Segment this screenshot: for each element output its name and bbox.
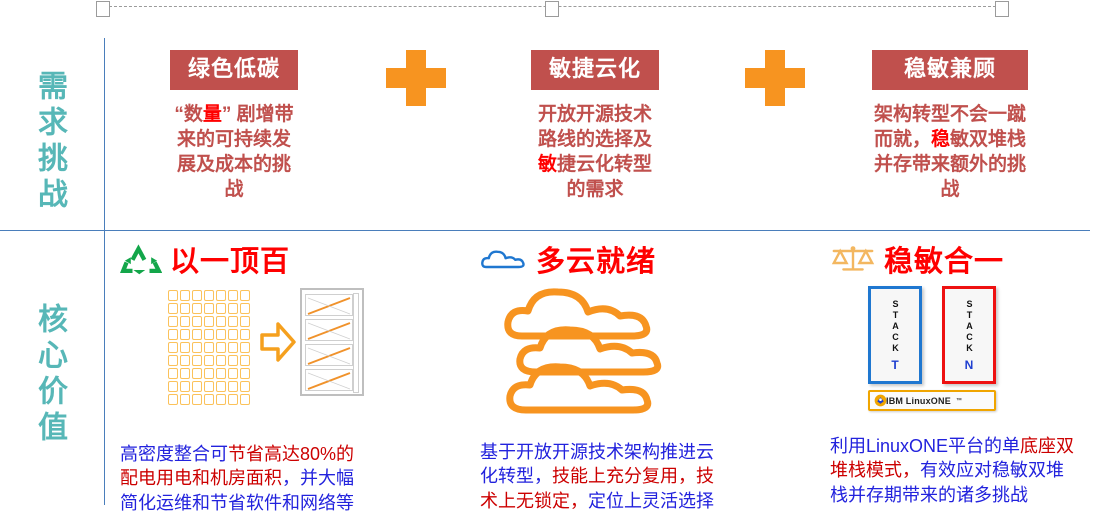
rack-diagonals [305, 294, 353, 394]
value-art-1 [120, 284, 360, 424]
challenge-body-3: 架构转型不会一蹴而就，稳敏双堆栈并存带来额外的挑战 [872, 102, 1028, 202]
challenge-text-highlight-2: 敏 [538, 154, 557, 175]
challenge-card-2: 敏捷云化 开放开源技术路线的选择及敏捷云化转型的需求 [531, 50, 659, 202]
recycle-icon [120, 242, 162, 276]
challenge-text-highlight-1: 量 [203, 104, 222, 125]
balance-scale-icon [830, 243, 876, 275]
stack-box-t-letter: T [891, 358, 898, 372]
bracket-tick-middle [545, 1, 559, 17]
linuxone-brand-text: IBM LinuxONE [886, 396, 951, 406]
value-column-3: 稳敏合一 STACK T STACK N IBM L [830, 240, 1080, 507]
value-header-2: 多云就绪 [480, 240, 730, 278]
bracket-tick-right [995, 1, 1009, 17]
challenge-body-2: 开放开源技术路线的选择及敏捷云化转型的需求 [531, 102, 659, 202]
challenge-card-3: 稳敏兼顾 架构转型不会一蹴而就，稳敏双堆栈并存带来额外的挑战 [872, 50, 1028, 202]
stacked-clouds-art [496, 280, 686, 420]
challenge-text-pre-1: “数 [174, 104, 203, 125]
challenge-text-highlight-3: 稳 [931, 129, 950, 150]
stack-box-n-label: STACK [962, 299, 975, 354]
challenge-text-post-2: 捷云化转型的需求 [557, 154, 652, 200]
row-label-core-value: 核心价值 [14, 280, 84, 470]
stack-box-t-label: STACK [888, 299, 901, 354]
challenge-card-1: 绿色低碳 “数量” 剧增带来的可持续发展及成本的挑战 [170, 50, 298, 202]
stack-box-t: STACK T [868, 286, 922, 384]
challenge-body-1: “数量” 剧增带来的可持续发展及成本的挑战 [170, 102, 298, 202]
plus-icon-2 [745, 50, 805, 106]
plus-bar-vertical-1 [406, 50, 426, 106]
rack-chassis [300, 288, 364, 396]
value-text-3: 利用LinuxONE平台的单底座双堆栈模式，有效应对稳敏双堆栈并存期带来的诸多挑… [830, 434, 1080, 507]
value-art-3: STACK T STACK N IBM LinuxONE™ [830, 284, 1080, 424]
row-label-challenges: 需求挑战 [14, 62, 84, 222]
value-header-1: 以一顶百 [120, 240, 360, 278]
value-title-2: 多云就绪 [536, 238, 656, 280]
challenge-badge-2: 敏捷云化 [531, 50, 659, 90]
value-text-2: 基于开放开源技术架构推进云化转型，技能上充分复用，技术上无锁定，定位上灵活选择 [480, 440, 730, 511]
value-text-3-a: 利用LinuxONE平台的单 [830, 436, 1020, 456]
vertical-divider [104, 38, 105, 505]
dual-stack-linuxone-art: STACK T STACK N IBM LinuxONE™ [864, 286, 1024, 418]
cloud-icon [480, 244, 528, 274]
plus-bar-vertical-2 [765, 50, 785, 106]
challenge-badge-3: 稳敏兼顾 [872, 50, 1028, 90]
value-text-1: 高密度整合可节省高达80%的配电用电和机房面积，并大幅简化运维和节省软件和网络等… [120, 442, 360, 511]
value-column-1: 以一顶百 [120, 240, 360, 511]
server-consolidation-art [168, 288, 368, 400]
linuxone-trademark: ™ [956, 398, 962, 404]
value-art-2 [480, 284, 730, 424]
value-column-2: 多云就绪 基于开放开源技术架构推进云化转型，技能上充分复用，技术上无锁定，定位上… [480, 240, 730, 511]
linuxone-logo-icon [874, 394, 887, 407]
plus-icon-1 [386, 50, 446, 106]
slide-canvas: 需求挑战 核心价值 绿色低碳 “数量” 剧增带来的可持续发展及成本的挑战 敏捷云… [0, 0, 1096, 511]
value-text-1-a: 高密度整合可 [120, 444, 228, 464]
transform-arrow-icon [260, 320, 296, 364]
value-title-1: 以一顶百 [170, 238, 290, 280]
horizontal-divider [0, 230, 1090, 231]
value-header-3: 稳敏合一 [830, 240, 1080, 278]
bracket-tick-left [96, 1, 110, 17]
linuxone-brand-bar: IBM LinuxONE™ [868, 390, 996, 411]
server-dot-grid [168, 290, 256, 405]
top-bracket [96, 1, 1009, 21]
value-title-3: 稳敏合一 [884, 238, 1004, 280]
stack-box-n-letter: N [965, 358, 974, 372]
challenge-text-pre-2: 开放开源技术路线的选择及 [538, 104, 652, 150]
challenge-badge-1: 绿色低碳 [170, 50, 298, 90]
stack-box-n: STACK N [942, 286, 996, 384]
rack-side-panel [353, 293, 359, 393]
value-text-2-c: 定位上灵活选择 [588, 491, 714, 511]
